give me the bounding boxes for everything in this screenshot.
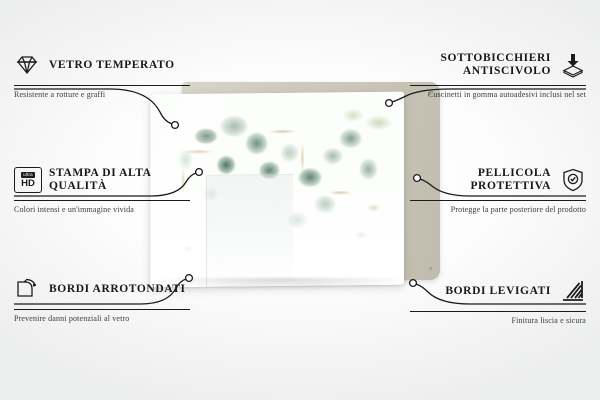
anti-slip-pad-icon <box>560 52 586 78</box>
feature-header: VETRO TEMPERATO <box>14 48 190 82</box>
feature-underline <box>410 311 586 312</box>
feature-underline <box>14 200 190 201</box>
feature-underline <box>410 85 586 86</box>
feature-underline <box>410 200 586 201</box>
feature-title: BORDI LEVIGATI <box>445 285 551 298</box>
rounded-corner-icon <box>14 276 40 302</box>
feature-bordi-levigati[interactable]: BORDI LEVIGATI Finitura liscia e sicura <box>410 274 586 327</box>
feature-header: BORDI ARROTONDATI <box>14 272 190 306</box>
polished-edge-icon <box>560 278 586 304</box>
feature-header: PELLICOLA PROTETTIVA <box>410 163 586 197</box>
backing-board-screw-bottom <box>429 267 432 270</box>
feature-title: SOTTOBICCHIERI ANTISCIVOLO <box>410 52 551 78</box>
feature-bordi-arrotondati[interactable]: BORDI ARROTONDATI Prevenire danni potenz… <box>14 272 190 325</box>
feature-header: ultra HD STAMPA DI ALTA QUALITÀ <box>14 163 190 197</box>
feature-subtitle: Prevenire danni potenziali al vetro <box>14 314 190 325</box>
feature-pellicola-protettiva[interactable]: PELLICOLA PROTETTIVA Protegge la parte p… <box>410 163 586 216</box>
feature-title: VETRO TEMPERATO <box>49 59 175 72</box>
feature-header: SOTTOBICCHIERI ANTISCIVOLO <box>410 48 586 82</box>
feature-underline <box>14 85 190 86</box>
feature-title: BORDI ARROTONDATI <box>49 283 186 296</box>
feature-underline <box>14 309 190 310</box>
infographic-canvas: VETRO TEMPERATO Resistente a rotture e g… <box>0 0 600 400</box>
product-shadow <box>156 278 408 290</box>
feature-subtitle: Resistente a rotture e graffi <box>14 90 190 101</box>
feature-subtitle: Finitura liscia e sicura <box>410 316 586 327</box>
feature-subtitle: Cuscinetti in gomma autoadesivi inclusi … <box>410 90 586 101</box>
feature-subtitle: Protegge la parte posteriore del prodott… <box>410 205 586 216</box>
ultra-hd-icon-small-text: ultra <box>21 172 35 178</box>
feature-vetro-temperato[interactable]: VETRO TEMPERATO Resistente a rotture e g… <box>14 48 190 101</box>
feature-sottobicchieri-antiscivolo[interactable]: SOTTOBICCHIERI ANTISCIVOLO Cuscinetti in… <box>410 48 586 101</box>
feature-title: STAMPA DI ALTA QUALITÀ <box>49 167 190 193</box>
feature-header: BORDI LEVIGATI <box>410 274 586 308</box>
shield-check-icon <box>560 167 586 193</box>
diamond-icon <box>14 52 40 78</box>
ultra-hd-icon-large-text: HD <box>21 179 35 189</box>
feature-subtitle: Colori intensi e un'immagine vivida <box>14 205 190 216</box>
feature-title: PELLICOLA PROTETTIVA <box>410 167 551 193</box>
feature-stampa-alta-qualita[interactable]: ultra HD STAMPA DI ALTA QUALITÀ Colori i… <box>14 163 190 216</box>
ultra-hd-icon: ultra HD <box>14 167 40 193</box>
